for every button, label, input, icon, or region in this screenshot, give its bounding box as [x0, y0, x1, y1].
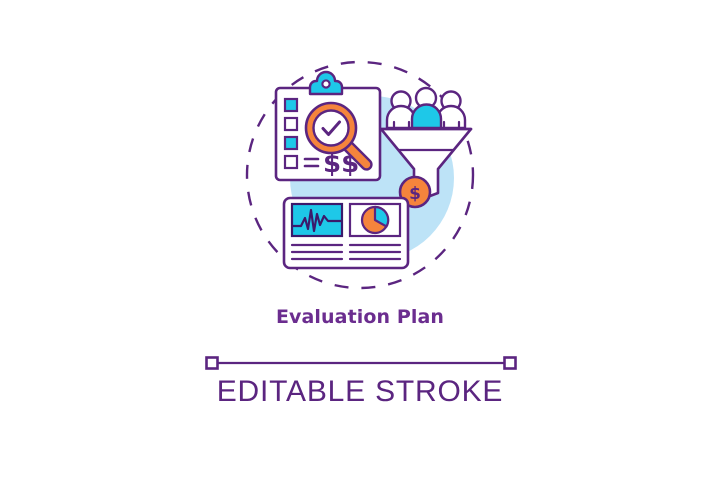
evaluation-plan-illustration: $: [0, 0, 720, 300]
stroke-handle-right: [505, 358, 516, 369]
checkbox-row-2: [285, 118, 297, 130]
analytics-dashboard-card: [284, 198, 408, 268]
illustration-canvas: $: [0, 0, 720, 479]
checkbox-row-4: [285, 156, 297, 168]
checkbox-row-3: [285, 137, 297, 149]
checkbox-row-1: [285, 99, 297, 111]
pie-chart-panel: [350, 204, 400, 236]
page-title: Evaluation Plan: [0, 306, 720, 328]
clipboard-clip-icon: [310, 72, 342, 94]
line-chart-panel: [292, 204, 342, 236]
svg-text:$: $: [409, 184, 421, 204]
editable-stroke-label: EDITABLE STROKE: [0, 375, 720, 409]
stroke-handle-left: [207, 358, 218, 369]
editable-stroke-divider: [0, 352, 720, 374]
